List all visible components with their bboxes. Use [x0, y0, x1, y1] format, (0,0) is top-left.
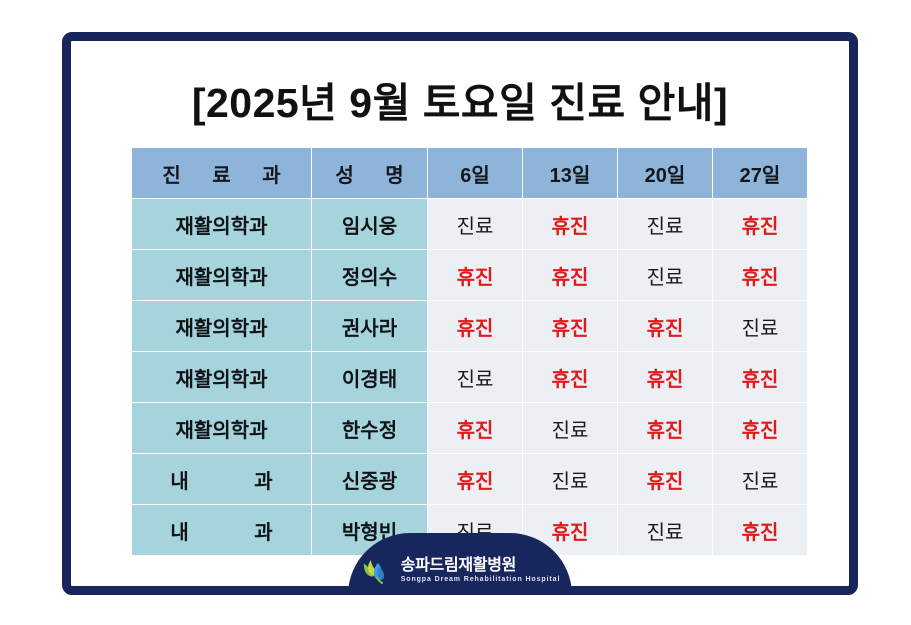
table-header-row: 진 료 과 성 명 6일 13일 20일 27일	[132, 148, 808, 199]
column-header-day-20: 20일	[618, 148, 713, 199]
cell-status-d13: 진료	[523, 403, 618, 454]
cell-department: 재활의학과	[132, 301, 312, 352]
leaf-icon	[360, 554, 394, 588]
cell-status-d20: 진료	[618, 250, 713, 301]
cell-status-d27: 휴진	[713, 250, 808, 301]
column-header-day-13: 13일	[523, 148, 618, 199]
cell-status-d27: 진료	[713, 301, 808, 352]
cell-status-d20: 진료	[618, 505, 713, 556]
table-body: 재활의학과임시웅진료휴진진료휴진재활의학과정의수휴진휴진진료휴진재활의학과권사라…	[132, 199, 808, 556]
cell-status-d27: 휴진	[713, 352, 808, 403]
cell-department: 내 과	[132, 505, 312, 556]
cell-doctor-name: 정의수	[312, 250, 428, 301]
cell-department: 재활의학과	[132, 199, 312, 250]
cell-status-d6: 진료	[428, 199, 523, 250]
cell-department: 내 과	[132, 454, 312, 505]
logo-name-korean: 송파드림재활병원	[401, 558, 561, 575]
table-row: 재활의학과정의수휴진휴진진료휴진	[132, 250, 808, 301]
table-row: 재활의학과임시웅진료휴진진료휴진	[132, 199, 808, 250]
cell-status-d6: 휴진	[428, 301, 523, 352]
column-header-day-27: 27일	[713, 148, 808, 199]
cell-status-d13: 휴진	[523, 250, 618, 301]
cell-status-d6: 휴진	[428, 454, 523, 505]
cell-status-d6: 휴진	[428, 250, 523, 301]
cell-status-d20: 휴진	[618, 301, 713, 352]
cell-doctor-name: 권사라	[312, 301, 428, 352]
cell-department: 재활의학과	[132, 352, 312, 403]
saturday-schedule-table: 진 료 과 성 명 6일 13일 20일 27일 재활의학과임시웅진료휴진진료휴…	[131, 147, 808, 556]
cell-status-d27: 휴진	[713, 505, 808, 556]
column-header-day-6: 6일	[428, 148, 523, 199]
cell-status-d20: 휴진	[618, 352, 713, 403]
cell-status-d20: 진료	[618, 199, 713, 250]
column-header-name: 성 명	[312, 148, 428, 199]
table-row: 재활의학과한수정휴진진료휴진휴진	[132, 403, 808, 454]
poster-frame: [2025년 9월 토요일 진료 안내] 진 료 과 성 명 6일 13일 20…	[62, 32, 858, 595]
cell-department: 재활의학과	[132, 250, 312, 301]
cell-status-d20: 휴진	[618, 454, 713, 505]
table-row: 재활의학과권사라휴진휴진휴진진료	[132, 301, 808, 352]
cell-status-d27: 휴진	[713, 403, 808, 454]
cell-status-d13: 진료	[523, 454, 618, 505]
cell-status-d6: 휴진	[428, 403, 523, 454]
cell-doctor-name: 이경태	[312, 352, 428, 403]
cell-status-d13: 휴진	[523, 301, 618, 352]
cell-status-d6: 진료	[428, 352, 523, 403]
cell-status-d20: 휴진	[618, 403, 713, 454]
logo-name-english: Songpa Dream Rehabilitation Hospital	[401, 576, 561, 583]
cell-doctor-name: 임시웅	[312, 199, 428, 250]
cell-doctor-name: 한수정	[312, 403, 428, 454]
table-row: 내 과신중광휴진진료휴진진료	[132, 454, 808, 505]
page-title: [2025년 9월 토요일 진료 안내]	[71, 83, 849, 124]
cell-status-d27: 진료	[713, 454, 808, 505]
hospital-logo: 송파드림재활병원 Songpa Dream Rehabilitation Hos…	[348, 533, 572, 595]
cell-status-d27: 휴진	[713, 199, 808, 250]
cell-status-d13: 휴진	[523, 199, 618, 250]
cell-doctor-name: 신중광	[312, 454, 428, 505]
column-header-department: 진 료 과	[132, 148, 312, 199]
cell-status-d13: 휴진	[523, 352, 618, 403]
table-row: 재활의학과이경태진료휴진휴진휴진	[132, 352, 808, 403]
cell-department: 재활의학과	[132, 403, 312, 454]
